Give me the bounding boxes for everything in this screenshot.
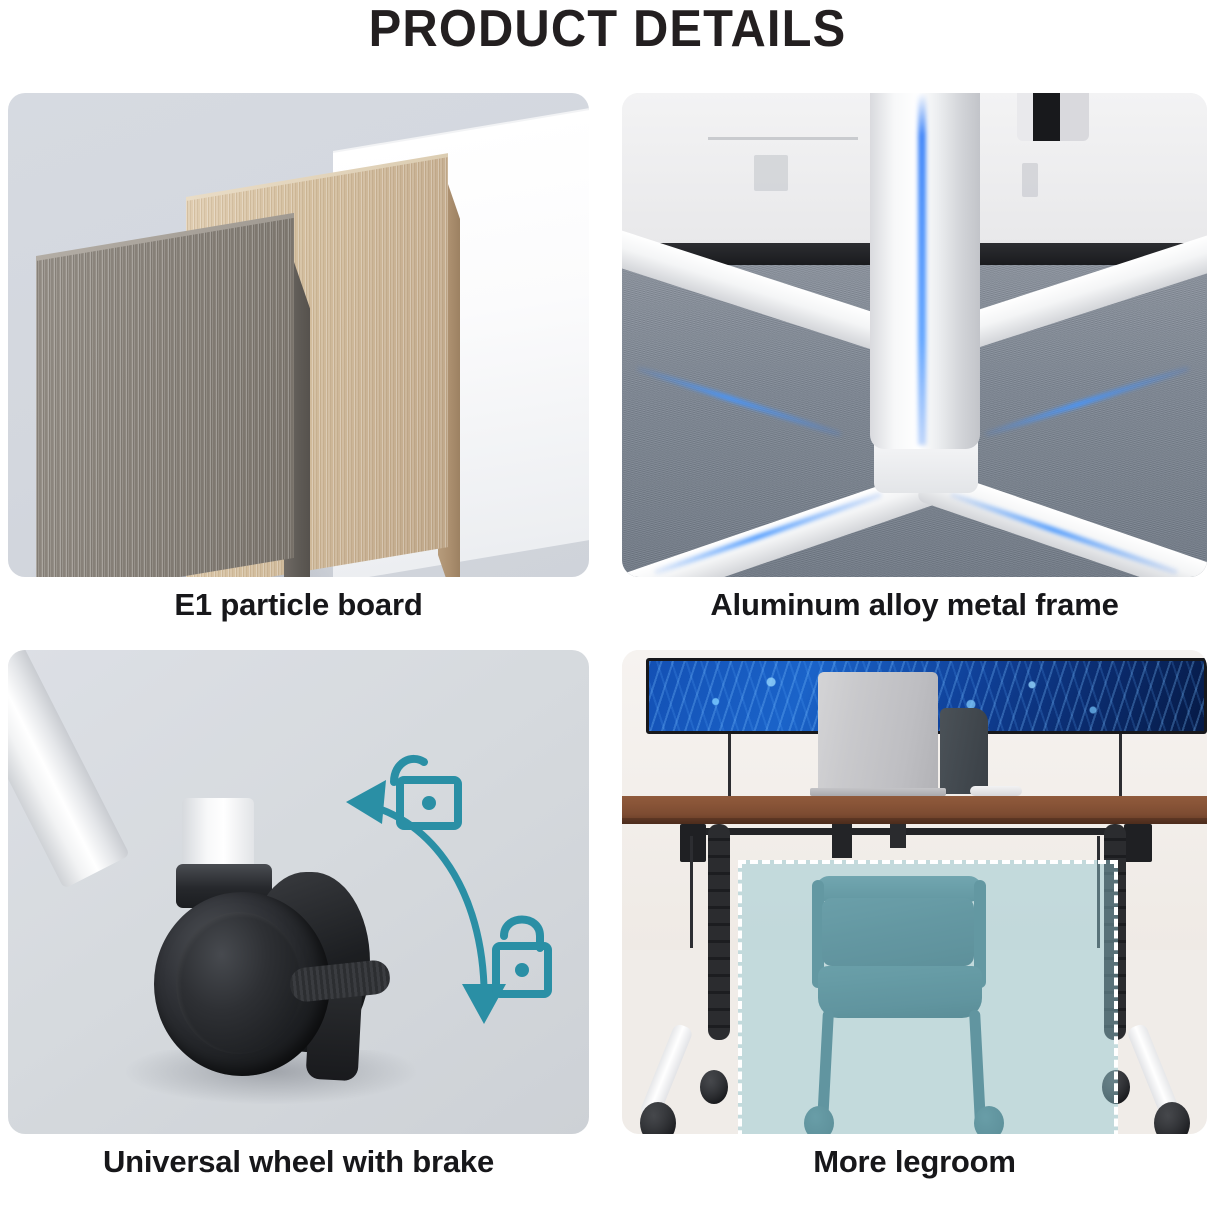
table-leg-black-left bbox=[708, 824, 730, 1040]
blue-glow-column bbox=[918, 93, 926, 445]
caption-particle-board: E1 particle board bbox=[0, 584, 601, 626]
table-bracket-center-right bbox=[890, 824, 906, 848]
table-bracket-left bbox=[680, 824, 706, 862]
wall-object-left bbox=[754, 155, 788, 191]
laptop-base bbox=[810, 788, 946, 796]
caption-universal-wheel: Universal wheel with brake bbox=[0, 1141, 601, 1183]
feature-cell-aluminum-frame: Aluminum alloy metal frame bbox=[622, 93, 1207, 577]
page-title: PRODUCT DETAILS bbox=[36, 1, 1178, 57]
feature-cell-universal-wheel: Universal wheel with brake bbox=[8, 650, 589, 1134]
curved-double-arrow-icon bbox=[362, 804, 484, 986]
wall-object-right bbox=[1022, 163, 1038, 197]
lock-icon bbox=[496, 920, 548, 995]
laptop bbox=[818, 672, 938, 792]
table-caster-rear-left bbox=[700, 1070, 728, 1104]
table-bracket-center-left bbox=[832, 824, 852, 858]
feature-cell-more-legroom: More legroom bbox=[622, 650, 1207, 1134]
screen-mount-right bbox=[1119, 734, 1122, 800]
universal-wheel-photo bbox=[8, 650, 589, 1134]
table-caster-front-right bbox=[1154, 1102, 1190, 1134]
chair-back-above-table bbox=[940, 708, 988, 794]
mouse bbox=[970, 786, 1022, 796]
product-details-infographic: PRODUCT DETAILS E1 particle board bbox=[0, 0, 1215, 1205]
screen-mount-left bbox=[728, 734, 731, 800]
wall-trim-line bbox=[708, 137, 858, 140]
frame-clip-bracket bbox=[1017, 93, 1089, 141]
table-top-edge bbox=[622, 818, 1207, 824]
table-hook-left bbox=[690, 836, 693, 948]
more-legroom-photo bbox=[622, 650, 1207, 1134]
table-top bbox=[622, 796, 1207, 820]
lock-state-diagram bbox=[338, 740, 568, 1040]
particle-board-photo bbox=[8, 93, 589, 577]
legroom-highlight-box bbox=[738, 860, 1118, 1134]
caster-wheel-hubcap bbox=[176, 912, 302, 1054]
table-cross-rod bbox=[692, 828, 1152, 835]
arrowhead-up bbox=[346, 780, 386, 824]
table-caster-front-left bbox=[640, 1102, 676, 1134]
caption-more-legroom: More legroom bbox=[610, 1141, 1215, 1183]
aluminum-frame-photo bbox=[622, 93, 1207, 577]
feature-cell-particle-board: E1 particle board bbox=[8, 93, 589, 577]
table-leg-upper bbox=[8, 650, 130, 889]
table-bracket-right bbox=[1124, 824, 1152, 862]
unlock-icon bbox=[394, 759, 458, 826]
caption-aluminum-frame: Aluminum alloy metal frame bbox=[610, 584, 1215, 626]
feature-grid: E1 particle board bbox=[8, 93, 1207, 1201]
gray-board bbox=[36, 218, 294, 577]
